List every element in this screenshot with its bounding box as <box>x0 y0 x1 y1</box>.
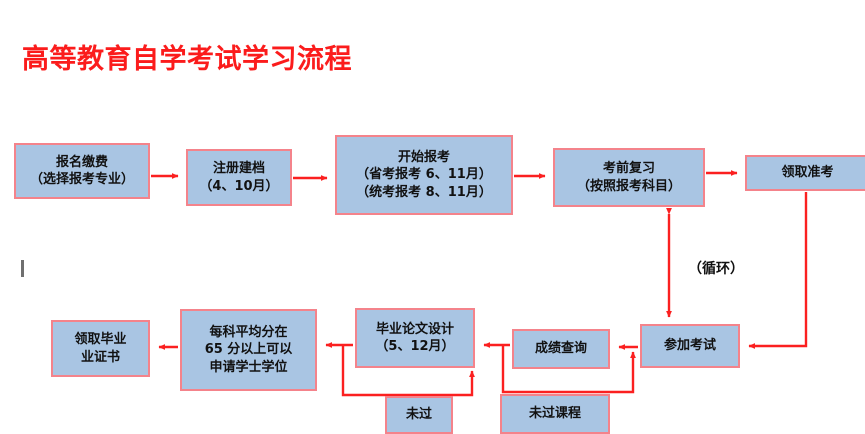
node-line: （统考报考 8、11月） <box>356 184 492 201</box>
node-line: 业证书 <box>81 349 120 366</box>
node-kaoqian-fuxi[interactable]: 考前复习 （按照报考科目） <box>553 148 705 207</box>
node-line: 未过课程 <box>529 405 581 422</box>
node-line: 每科平均分在 <box>209 324 287 341</box>
node-line: （选择报考专业） <box>30 171 134 188</box>
node-line: （省考报考 6、11月） <box>356 166 492 183</box>
node-line: （5、12月） <box>375 338 454 355</box>
edge-lingquzhunkao-to-canjiakaoshi <box>749 192 806 346</box>
loop-annotation-label: （循环） <box>688 258 744 278</box>
node-line: 成绩查询 <box>535 340 587 357</box>
flowchart-canvas: 高等教育自学考试学习流程 <box>0 0 865 434</box>
node-lingqu-biye-zhengshu[interactable]: 领取毕业 业证书 <box>51 320 150 377</box>
node-weiguo-kecheng[interactable]: 未过课程 <box>500 394 610 434</box>
node-line: 考前复习 <box>603 160 655 177</box>
node-line: 注册建档 <box>213 160 265 177</box>
node-line: 65 分以上可以 <box>205 341 293 358</box>
node-zhuce-jiandang[interactable]: 注册建档 （4、10月） <box>186 149 292 206</box>
node-biye-lunwen-sheji[interactable]: 毕业论文设计 （5、12月） <box>355 308 475 368</box>
node-line: 领取准考 <box>781 164 833 181</box>
node-line: 参加考试 <box>664 337 716 354</box>
node-baoming-jiaofei[interactable]: 报名缴费 （选择报考专业） <box>14 143 150 199</box>
page-title: 高等教育自学考试学习流程 <box>22 37 352 76</box>
node-line: （按照报考科目） <box>577 178 681 195</box>
node-chengji-chaxun[interactable]: 成绩查询 <box>512 329 610 369</box>
node-line: 申请学士学位 <box>209 359 287 376</box>
node-kaishi-baokao[interactable]: 开始报考 （省考报考 6、11月） （统考报考 8、11月） <box>335 135 513 215</box>
node-line: 开始报考 <box>398 149 450 166</box>
node-line: 未过 <box>406 406 432 423</box>
text-cursor-caret <box>21 260 24 277</box>
node-canjia-kaoshi[interactable]: 参加考试 <box>640 324 740 368</box>
node-xueshi-xuewei-tiaojian[interactable]: 每科平均分在 65 分以上可以 申请学士学位 <box>180 309 317 391</box>
node-line: 报名缴费 <box>56 154 108 171</box>
node-weiguo[interactable]: 未过 <box>385 396 453 434</box>
node-lingqu-zhunkao[interactable]: 领取准考 <box>745 155 865 191</box>
node-line: 领取毕业 <box>74 331 126 348</box>
node-line: 毕业论文设计 <box>376 321 454 338</box>
node-line: （4、10月） <box>199 178 278 195</box>
